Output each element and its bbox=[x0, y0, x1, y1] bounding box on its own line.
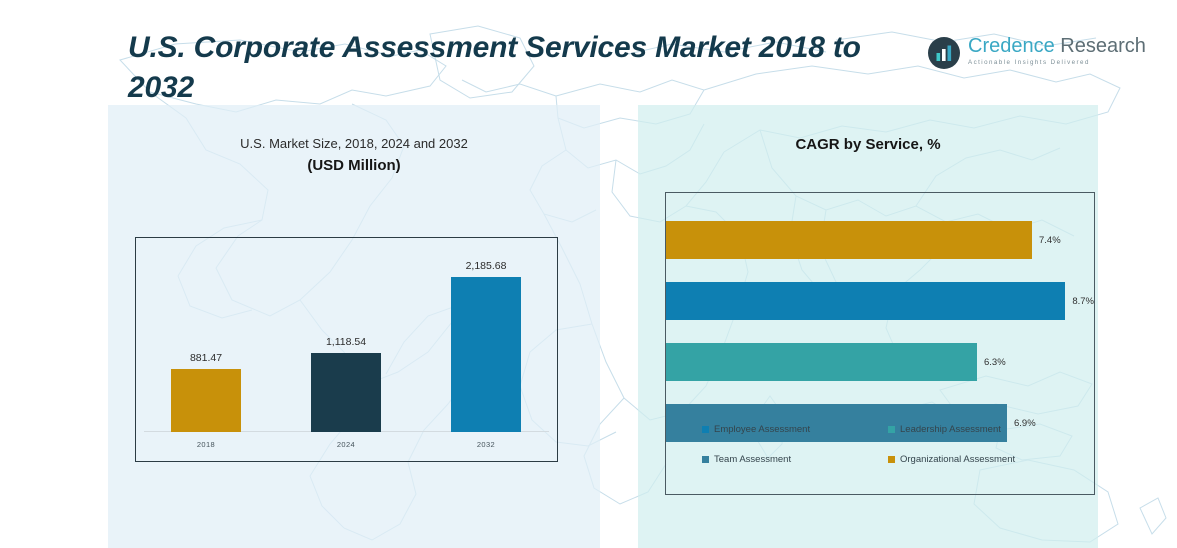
legend-label: Team Assessment bbox=[714, 454, 791, 465]
cagr-bar bbox=[666, 343, 977, 381]
page-title: U.S. Corporate Assessment Services Marke… bbox=[128, 28, 928, 108]
market-size-bar-group: 881.472018 bbox=[171, 369, 241, 432]
legend-label: Leadership Assessment bbox=[900, 424, 1001, 435]
cagr-bar-value: 7.4% bbox=[1039, 235, 1061, 246]
legend-item: Employee Assessment bbox=[702, 414, 888, 444]
legend-item: Team Assessment bbox=[702, 444, 888, 474]
market-size-bar bbox=[451, 277, 521, 432]
cagr-bar-value: 8.7% bbox=[1072, 296, 1094, 307]
market-size-category-label: 2018 bbox=[149, 440, 263, 449]
brand-name-second: Research bbox=[1055, 35, 1146, 57]
legend-swatch-icon bbox=[888, 456, 895, 463]
market-size-bar-group: 1,118.542024 bbox=[311, 353, 381, 432]
left-chart-subtitle-line1: U.S. Market Size, 2018, 2024 and 2032 bbox=[108, 135, 600, 154]
right-chart-title: CAGR by Service, % bbox=[638, 136, 1098, 153]
market-size-bar bbox=[311, 353, 381, 432]
legend-item: Leadership Assessment bbox=[888, 414, 1074, 444]
market-size-plot-area: 881.4720181,118.5420242,185.682032 bbox=[136, 238, 557, 461]
legend-label: Employee Assessment bbox=[714, 424, 810, 435]
market-size-bar-value: 2,185.68 bbox=[429, 260, 543, 272]
legend-item: Organizational Assessment bbox=[888, 444, 1074, 474]
legend-swatch-icon bbox=[888, 426, 895, 433]
market-size-bar-value: 881.47 bbox=[149, 352, 263, 364]
left-chart-subtitle-line2: (USD Million) bbox=[108, 154, 600, 178]
cagr-bar-value: 6.3% bbox=[984, 357, 1006, 368]
legend-swatch-icon bbox=[702, 426, 709, 433]
market-size-bar-group: 2,185.682032 bbox=[451, 277, 521, 432]
brand-tagline: Actionable Insights Delivered bbox=[968, 59, 1146, 66]
market-size-category-label: 2032 bbox=[429, 440, 543, 449]
cagr-bar-row: 7.4% bbox=[666, 221, 1094, 259]
cagr-bar bbox=[666, 221, 1032, 259]
brand-text-wrap: Credence Research Actionable Insights De… bbox=[968, 34, 1146, 66]
cagr-bar-row: 6.3% bbox=[666, 343, 1094, 381]
header: U.S. Corporate Assessment Services Marke… bbox=[0, 0, 1177, 105]
brand-name-first: Credence bbox=[968, 35, 1055, 57]
market-size-bar-value: 1,118.54 bbox=[289, 336, 403, 348]
cagr-plot-area: 7.4%8.7%6.3%6.9% bbox=[666, 209, 1094, 424]
market-size-bar bbox=[171, 369, 241, 432]
cagr-bar bbox=[666, 282, 1065, 320]
bar-chart-circle-icon bbox=[927, 36, 961, 70]
legend-label: Organizational Assessment bbox=[900, 454, 1015, 465]
cagr-by-service-bar-chart: 7.4%8.7%6.3%6.9% Employee AssessmentLead… bbox=[665, 192, 1095, 495]
cagr-bar-row: 8.7% bbox=[666, 282, 1094, 320]
brand-name: Credence Research bbox=[968, 35, 1146, 57]
cagr-legend: Employee AssessmentLeadership Assessment… bbox=[702, 414, 1074, 474]
left-chart-title: U.S. Market Size, 2018, 2024 and 2032 (U… bbox=[108, 135, 600, 178]
market-size-bar-chart: 881.4720181,118.5420242,185.682032 bbox=[135, 237, 558, 462]
market-size-category-label: 2024 bbox=[289, 440, 403, 449]
legend-swatch-icon bbox=[702, 456, 709, 463]
brand-logo: Credence Research Actionable Insights De… bbox=[927, 34, 1102, 80]
